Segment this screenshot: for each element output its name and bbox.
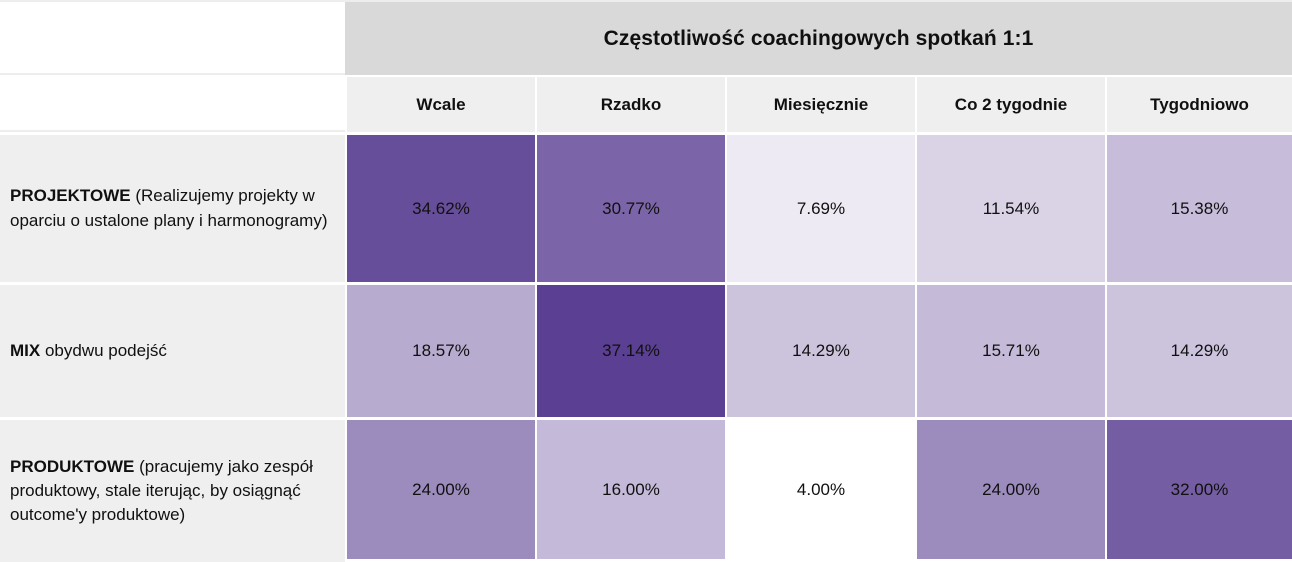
row-header-projektowe-bold: PROJEKTOWE [10,186,131,205]
row-header-mix-rest: obydwu podejść [40,341,167,360]
column-group-title: Częstotliwość coachingowych spotkań 1:1 [345,0,1292,75]
corner-cell-header-row [0,75,345,132]
column-header-miesiecznie: Miesięcznie [725,75,915,132]
cell-r2-c2: 4.00% [725,417,915,562]
cell-r0-c1: 30.77% [535,132,725,282]
column-header-co-2-tygodnie: Co 2 tygodnie [915,75,1105,132]
row-header-mix: MIX obydwu podejść [0,282,345,417]
cell-r2-c1: 16.00% [535,417,725,562]
column-header-tygodniowo: Tygodniowo [1105,75,1292,132]
corner-cell-title-row [0,0,345,75]
row-header-projektowe: PROJEKTOWE (Realizujemy projekty w oparc… [0,132,345,282]
cell-r2-c0: 24.00% [345,417,535,562]
column-header-wcale: Wcale [345,75,535,132]
cell-r2-c4: 32.00% [1105,417,1292,562]
row-header-mix-bold: MIX [10,341,40,360]
cell-r1-c0: 18.57% [345,282,535,417]
cell-r0-c0: 34.62% [345,132,535,282]
cell-r1-c2: 14.29% [725,282,915,417]
cell-r1-c3: 15.71% [915,282,1105,417]
cell-r0-c4: 15.38% [1105,132,1292,282]
heatmap-table: Częstotliwość coachingowych spotkań 1:1 … [0,0,1292,562]
row-header-produktowe-bold: PRODUKTOWE [10,457,134,476]
column-header-rzadko: Rzadko [535,75,725,132]
cell-r1-c4: 14.29% [1105,282,1292,417]
cell-r2-c3: 24.00% [915,417,1105,562]
cell-r0-c3: 11.54% [915,132,1105,282]
row-header-produktowe: PRODUKTOWE (pracujemy jako zespół produk… [0,417,345,562]
cell-r1-c1: 37.14% [535,282,725,417]
cell-r0-c2: 7.69% [725,132,915,282]
